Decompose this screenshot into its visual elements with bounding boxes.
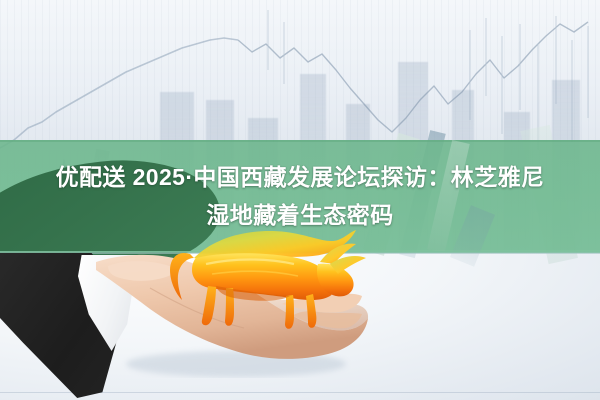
bull-leg-front-left [202,286,216,325]
bull-leg-back-left [285,295,294,329]
news-banner: 优配送 2025·中国西藏发展论坛探访：林芝雅尼 湿地藏着生态密码 [0,0,600,400]
golden-bull-figurine [160,224,370,334]
headline: 优配送 2025·中国西藏发展论坛探访：林芝雅尼 湿地藏着生态密码 [0,158,600,234]
headline-line-1: 优配送 2025·中国西藏发展论坛探访：林芝雅尼 [0,158,600,196]
bull-tail [170,253,194,300]
green-band-top-edge [0,140,600,142]
